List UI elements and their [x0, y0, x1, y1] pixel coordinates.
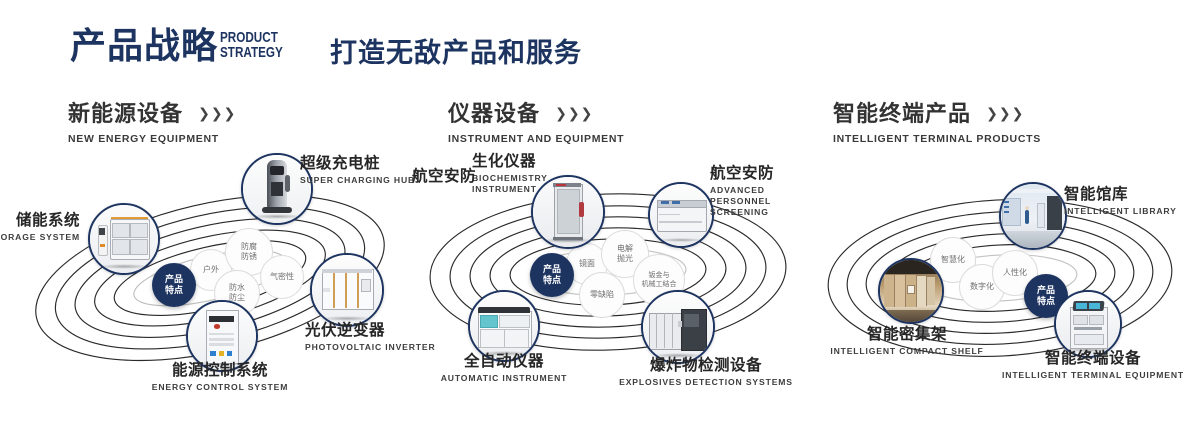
chevron-right-icon: ❯❯❯ [198, 105, 236, 122]
node-energy-storage-system[interactable] [88, 203, 160, 275]
chevron-right-icon: ❯❯❯ [986, 105, 1024, 122]
section-heading-cn-text: 智能终端产品 [833, 101, 971, 126]
section-heading-cn: 新能源设备 ❯❯❯ [68, 96, 236, 128]
pv-inverter-photo [312, 255, 382, 325]
feature-bubble-zero-defect: 零缺陷 [579, 272, 625, 318]
core-bubble-product-features: 产品 特点 [530, 253, 574, 297]
node-label-intelligent-terminal-equipment: 智能终端设备 INTELLIGENT TERMINAL EQUIPMENT [986, 350, 1200, 381]
page-title: 产品战略 [70, 26, 218, 66]
cluster-instrument: 镜面 电解 抛光 零缺陷 钣金与 机械工结合 产品 特点 [398, 150, 818, 418]
cluster-intelligent-terminal: 智慧化 数字化 人性化 产品 特点 智能馆库 INTELLIGENT LIBRA… [800, 150, 1200, 418]
section-heading-cn-text: 新能源设备 [68, 101, 183, 126]
energy-storage-photo [90, 205, 158, 273]
page-title-english-line2: STRATEGY [220, 45, 282, 60]
node-label-energy-storage-system: 储能系统 ENERGY STORAGE SYSTEM [0, 212, 80, 243]
node-explosives-detection-systems[interactable] [641, 290, 715, 364]
node-photovoltaic-inverter[interactable] [310, 253, 384, 327]
section-heading-cn: 智能终端产品 ❯❯❯ [833, 96, 1041, 128]
page-title-english-line1: PRODUCT [220, 30, 282, 45]
section-heading-cn: 仪器设备 ❯❯❯ [448, 96, 624, 128]
feature-bubble-airtight: 气密性 [260, 255, 304, 299]
section-heading-en: INTELLIGENT TERMINAL PRODUCTS [833, 133, 1041, 145]
section-heading-instrument: 仪器设备 ❯❯❯ INSTRUMENT AND EQUIPMENT [448, 96, 624, 145]
node-biochemistry-instrument[interactable] [531, 175, 605, 249]
node-label-biochemistry-instrument: 生化仪器 BIOCHEMISTRY INSTRUMENT [472, 153, 536, 195]
node-label-intelligent-compact-shelf: 智能密集架 INTELLIGENT COMPACT SHELF [808, 326, 1006, 357]
page-header: 产品战略 PRODUCT STRATEGY 打造无敌产品和服务 [0, 0, 1200, 90]
explosives-detection-photo [643, 292, 713, 362]
node-label-energy-control-system: 能源控制系统 ENERGY CONTROL SYSTEM [105, 362, 335, 393]
node-intelligent-library[interactable] [999, 182, 1067, 250]
node-automatic-instrument[interactable] [468, 290, 540, 362]
node-label-explosives-detection-systems: 爆炸物检测设备 EXPLOSIVES DETECTION SYSTEMS [586, 357, 826, 388]
energy-control-photo [188, 302, 256, 370]
core-bubble-product-features: 产品 特点 [152, 263, 196, 307]
node-intelligent-terminal-equipment[interactable] [1054, 290, 1122, 358]
node-label-advanced-personnel-screening: 航空安防 ADVANCED PERSONNEL SCREENING [710, 165, 806, 218]
intelligent-library-photo [1001, 184, 1065, 248]
compact-shelf-photo [880, 260, 942, 322]
page-title-english: PRODUCT STRATEGY [220, 30, 282, 60]
section-heading-cn-text: 仪器设备 [448, 101, 540, 126]
screening-equipment-photo [650, 184, 712, 246]
section-heading-new-energy: 新能源设备 ❯❯❯ NEW ENERGY EQUIPMENT [68, 96, 236, 145]
node-intelligent-compact-shelf[interactable] [878, 258, 944, 324]
section-heading-en: INSTRUMENT AND EQUIPMENT [448, 133, 624, 145]
node-advanced-personnel-screening[interactable] [648, 182, 714, 248]
chevron-right-icon: ❯❯❯ [555, 105, 593, 122]
section-heading-en: NEW ENERGY EQUIPMENT [68, 133, 236, 145]
section-heading-intelligent-terminal: 智能终端产品 ❯❯❯ INTELLIGENT TERMINAL PRODUCTS [833, 96, 1041, 145]
node-label-aviation-security-left: 航空安防 [412, 168, 476, 186]
biochemistry-instrument-photo [533, 177, 603, 247]
terminal-equipment-photo [1056, 292, 1120, 356]
cluster-new-energy: 户外 防腐 防锈 防水 防尘 气密性 产品 特点 [0, 150, 420, 418]
node-label-intelligent-library: 智能馆库 INTELLIGENT LIBRARY [1064, 186, 1177, 217]
node-label-automatic-instrument: 全自动仪器 AUTOMATIC INSTRUMENT [404, 353, 604, 384]
page-subtitle: 打造无敌产品和服务 [330, 31, 582, 70]
automatic-instrument-photo [470, 292, 538, 360]
